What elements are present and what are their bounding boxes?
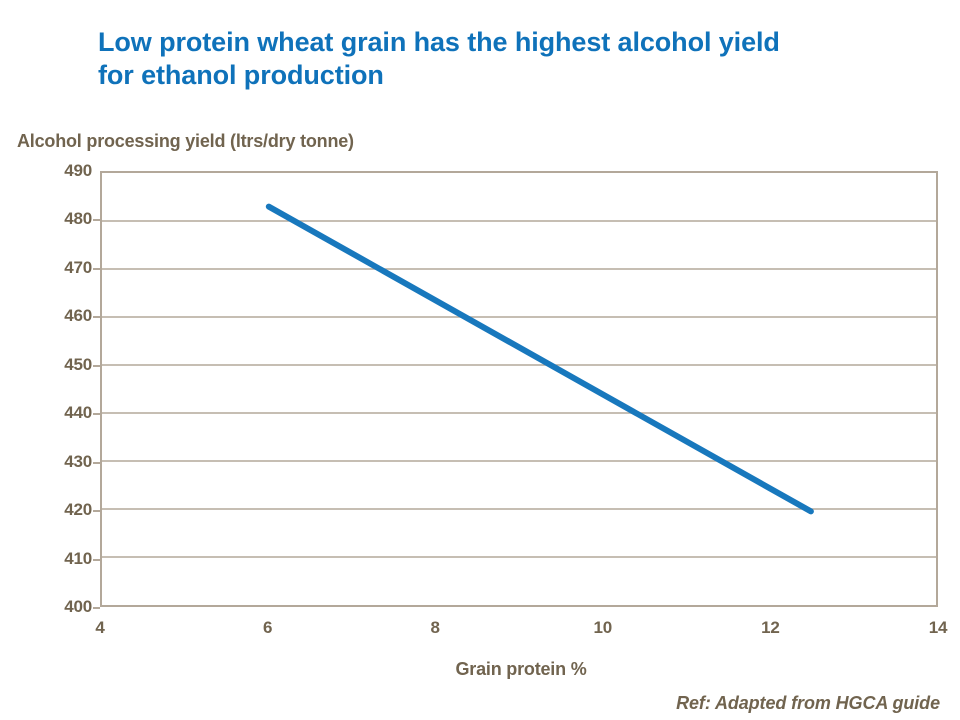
y-axis-tick-mark (93, 316, 100, 318)
data-series-group (269, 207, 811, 512)
x-axis-tick-label: 8 (431, 618, 440, 638)
gridlines (102, 221, 936, 557)
plot-area (100, 171, 938, 607)
y-axis-tick-marks (93, 171, 100, 607)
y-axis-tick-mark (93, 413, 100, 415)
y-axis-title: Alcohol processing yield (ltrs/dry tonne… (17, 131, 354, 152)
page-title: Low protein wheat grain has the highest … (98, 26, 928, 92)
x-axis-tick-label: 14 (929, 618, 948, 638)
y-axis-tick-label: 450 (12, 355, 92, 375)
y-axis-tick-mark (93, 559, 100, 561)
chart-plot-svg (102, 173, 936, 605)
y-axis-tick-label: 470 (12, 258, 92, 278)
y-axis-tick-label: 490 (12, 161, 92, 181)
x-axis-tick-labels: 468101214 (100, 618, 938, 642)
x-axis-tick-label: 4 (95, 618, 104, 638)
x-axis-title: Grain protein % (0, 659, 960, 680)
y-axis-tick-mark (93, 510, 100, 512)
y-axis-tick-label: 430 (12, 452, 92, 472)
y-axis-tick-label: 480 (12, 209, 92, 229)
series-line (269, 207, 811, 512)
x-axis-tick-label: 6 (263, 618, 272, 638)
y-axis-tick-labels: 490480470460450440430420410400 (8, 171, 92, 607)
y-axis-tick-label: 440 (12, 403, 92, 423)
y-axis-tick-label: 400 (12, 597, 92, 617)
source-note: Ref: Adapted from HGCA guide (676, 693, 940, 714)
x-axis-tick-label: 12 (761, 618, 780, 638)
y-axis-tick-label: 410 (12, 549, 92, 569)
y-axis-tick-mark (93, 607, 100, 609)
y-axis-tick-label: 420 (12, 500, 92, 520)
y-axis-tick-mark (93, 365, 100, 367)
y-axis-tick-mark (93, 462, 100, 464)
y-axis-tick-mark (93, 268, 100, 270)
x-axis-tick-label: 10 (594, 618, 613, 638)
slide-canvas: Low protein wheat grain has the highest … (0, 0, 960, 720)
y-axis-tick-label: 460 (12, 306, 92, 326)
y-axis-tick-mark (93, 219, 100, 221)
